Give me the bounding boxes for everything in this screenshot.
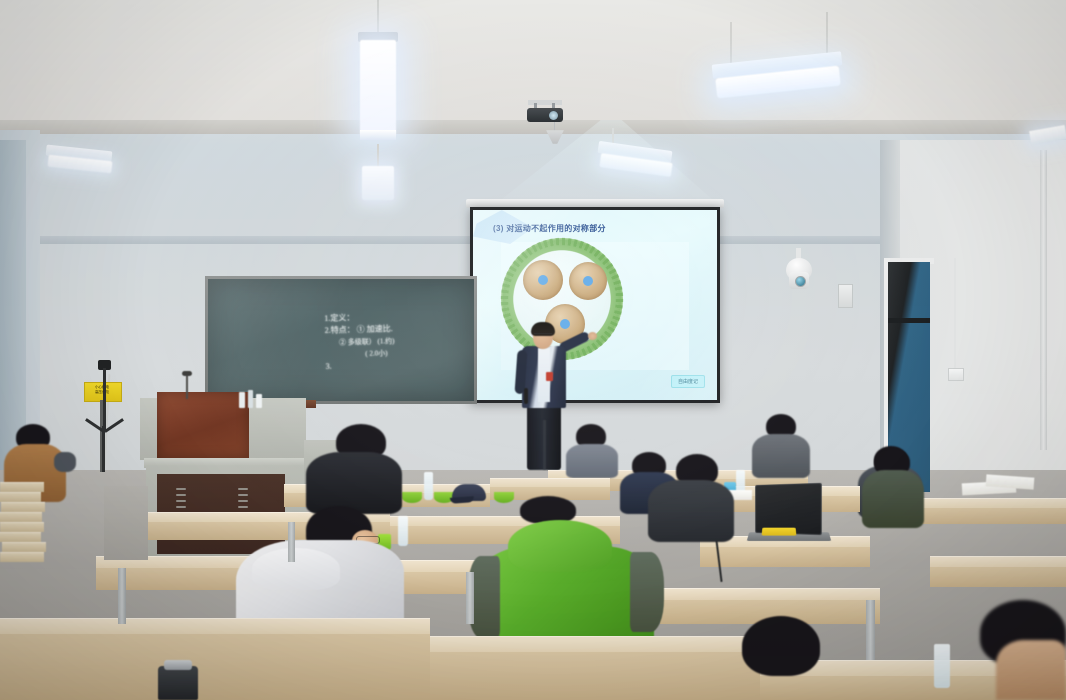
presenter-pointer bbox=[524, 388, 528, 404]
planet-gear-hub bbox=[538, 275, 548, 285]
warning-sign-text: 小心触电 高压危险 bbox=[86, 385, 118, 395]
left-curtain bbox=[0, 140, 26, 470]
attendee-chair bbox=[630, 552, 664, 632]
attendee-hood bbox=[252, 548, 340, 590]
slide-badge: 自由度记 bbox=[671, 375, 705, 388]
desk-front-2-farright bbox=[900, 508, 1066, 524]
yellow-item-on-laptop bbox=[762, 528, 797, 536]
desk-row-front-left bbox=[0, 618, 430, 635]
green-bowl bbox=[402, 492, 422, 503]
attendee-shoulder bbox=[996, 640, 1066, 700]
pendant-lamp-lower bbox=[362, 166, 394, 200]
thermos-lid bbox=[164, 660, 192, 670]
projection-screen: (3) 对运动不起作用的对称部分 自由度记 bbox=[473, 210, 717, 400]
presenter-glasses bbox=[534, 333, 552, 338]
attendee-navy-coat bbox=[566, 444, 618, 478]
presenter-badge bbox=[546, 372, 553, 381]
microphone-icon bbox=[182, 371, 192, 376]
tripod-pole bbox=[103, 368, 106, 430]
pendant-rod bbox=[377, 0, 379, 34]
camera-lens-icon bbox=[795, 276, 806, 287]
desk-row-front-mid bbox=[430, 636, 760, 653]
desk-leg bbox=[866, 600, 875, 660]
slide-title: (3) 对运动不起作用的对称部分 bbox=[493, 223, 606, 234]
ceiling-lamp-rod bbox=[730, 22, 732, 64]
pendant-fluorescent-lamp bbox=[360, 40, 396, 135]
hanging-cord bbox=[954, 258, 956, 370]
pendant-rod-lower bbox=[377, 144, 379, 168]
warning-line-2: 高压危险 bbox=[86, 390, 118, 395]
planet-gear-hub bbox=[583, 276, 593, 286]
attendee-head-foreground bbox=[742, 616, 820, 676]
projector-lens bbox=[549, 111, 558, 120]
desk-front-front-left bbox=[0, 634, 430, 700]
water-bottle bbox=[424, 472, 433, 500]
desk-front-3-right bbox=[700, 547, 870, 567]
door-rail bbox=[888, 318, 930, 323]
stacked-wood-planks bbox=[0, 482, 42, 566]
presenter-hand bbox=[588, 332, 597, 340]
desk-front-front-mid bbox=[430, 652, 760, 700]
floor-step bbox=[104, 486, 148, 560]
pendant-lamp-diffuser bbox=[360, 130, 396, 140]
wall-pipe bbox=[1040, 150, 1047, 450]
water-bottle bbox=[398, 516, 408, 546]
bottle bbox=[256, 394, 262, 408]
planet-gear-hub bbox=[560, 319, 570, 329]
chalk-writing: 1.定义： 2.特点： ① 加速比. ② 多级联） (1.约) ( 2.0小) … bbox=[324, 311, 395, 373]
light-switch[interactable] bbox=[948, 368, 964, 381]
tripod-leg bbox=[102, 426, 105, 472]
podium-wood-panel bbox=[157, 392, 249, 458]
water-bottle bbox=[934, 644, 950, 688]
lecture-hall-photo: (3) 对运动不起作用的对称部分 自由度记 1.定义： 2.特点： ① 加速比.… bbox=[0, 0, 1066, 700]
chalk-line: ( 2.0小) bbox=[325, 347, 395, 361]
wall-junction-box bbox=[838, 284, 853, 308]
attendee-hood bbox=[508, 520, 612, 572]
ceiling-beam bbox=[0, 120, 1066, 134]
bottle bbox=[239, 392, 245, 408]
podium-microphone-stem bbox=[186, 375, 188, 399]
desk-front-3-farright bbox=[930, 567, 1066, 587]
chalk-line: 3. bbox=[325, 359, 395, 373]
green-bowl bbox=[494, 492, 514, 503]
attendee-gray-jacket bbox=[752, 434, 810, 478]
attendee-black-coat bbox=[306, 452, 402, 514]
desk-leg bbox=[288, 522, 295, 562]
attendee-neighbor bbox=[54, 452, 76, 472]
attendee-olive-jacket bbox=[862, 470, 924, 528]
desk-leg bbox=[466, 572, 474, 624]
presenter-leg-separation bbox=[543, 420, 546, 470]
thermos bbox=[158, 666, 198, 700]
bottle bbox=[248, 390, 253, 408]
attendee-dark-coat bbox=[648, 480, 734, 542]
desk-leg bbox=[118, 568, 126, 624]
